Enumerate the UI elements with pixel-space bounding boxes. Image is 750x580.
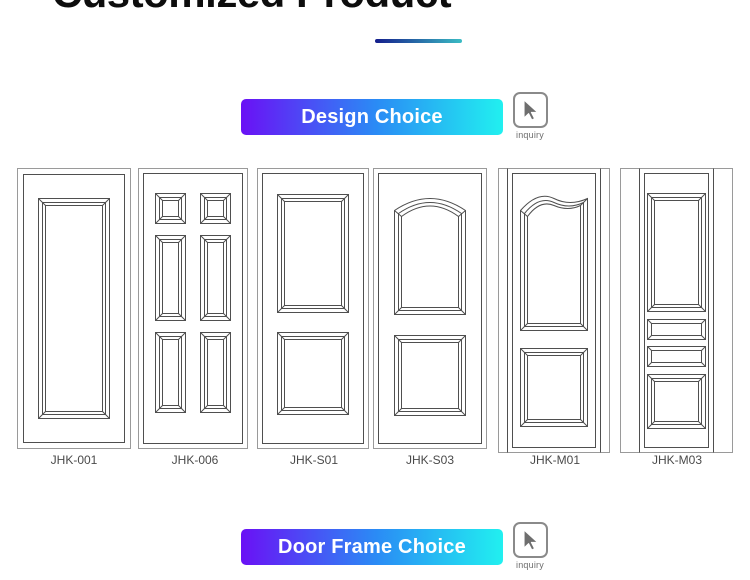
door-card-jhk-s03[interactable]: JHK-S03: [373, 160, 487, 468]
inquiry-label-design: inquiry: [510, 129, 550, 142]
inquiry-label-door-frame: inquiry: [510, 559, 550, 572]
door-drawing-jhk-m03: [620, 160, 734, 450]
page-title: Customized Product: [0, 0, 503, 16]
door-label-jhk-006: JHK-006: [138, 452, 252, 468]
door-drawing-jhk-s03: [373, 160, 487, 450]
door-design-gallery: JHK-001: [0, 160, 750, 480]
cursor-arrow-icon: [523, 529, 540, 551]
title-underline-accent: [375, 39, 462, 43]
section-design-choice: Design Choice inquiry: [0, 92, 750, 150]
door-label-jhk-m03: JHK-M03: [620, 452, 734, 468]
door-card-jhk-006[interactable]: JHK-006: [138, 160, 252, 468]
section-door-frame-choice: Door Frame Choice inquiry: [0, 522, 750, 580]
door-card-jhk-s01[interactable]: JHK-S01: [257, 160, 371, 468]
door-card-jhk-m03[interactable]: JHK-M03: [620, 160, 734, 468]
door-drawing-jhk-s01: [257, 160, 371, 450]
door-frame-choice-button[interactable]: Door Frame Choice: [241, 529, 503, 565]
door-label-jhk-m01: JHK-M01: [498, 452, 612, 468]
cursor-arrow-icon: [523, 99, 540, 121]
inquiry-design-choice[interactable]: inquiry: [510, 92, 550, 142]
door-drawing-jhk-m01: [498, 160, 612, 450]
door-label-jhk-s03: JHK-S03: [373, 452, 487, 468]
inquiry-box-door-frame[interactable]: [513, 522, 548, 558]
inquiry-door-frame-choice[interactable]: inquiry: [510, 522, 550, 572]
door-drawing-jhk-006: [138, 160, 252, 450]
door-label-jhk-s01: JHK-S01: [257, 452, 371, 468]
design-choice-button[interactable]: Design Choice: [241, 99, 503, 135]
door-card-jhk-001[interactable]: JHK-001: [17, 160, 131, 468]
inquiry-box-design[interactable]: [513, 92, 548, 128]
door-card-jhk-m01[interactable]: JHK-M01: [498, 160, 612, 468]
door-label-jhk-001: JHK-001: [17, 452, 131, 468]
door-drawing-jhk-001: [17, 160, 131, 450]
